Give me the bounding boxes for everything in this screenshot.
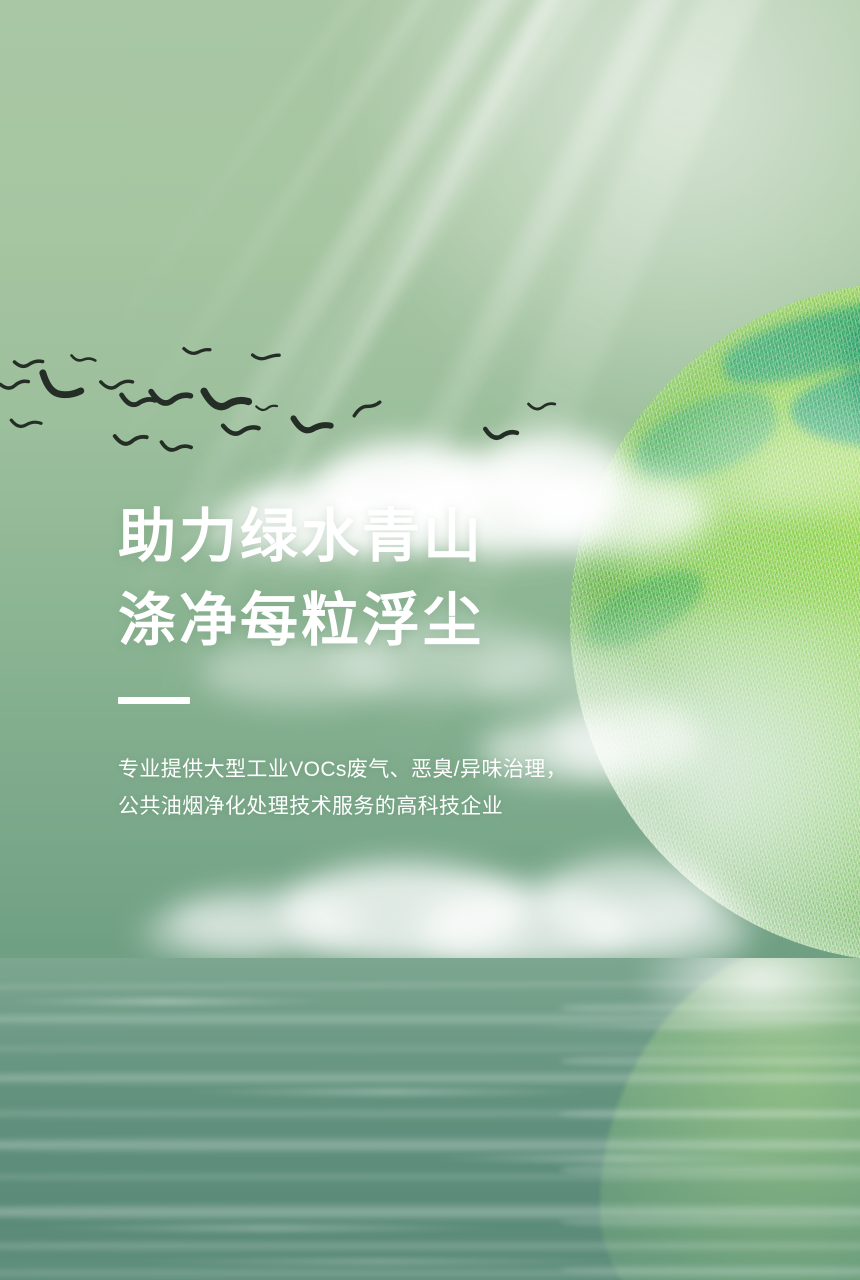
subtitle-line-1: 专业提供大型工业VOCs废气、恶臭/异味治理， [118, 751, 638, 788]
reflection-wave [560, 1002, 860, 1014]
reflection-wave [560, 1264, 860, 1276]
water-streak [430, 1154, 810, 1163]
reflection-wave [560, 1054, 860, 1068]
water-wave [0, 1136, 860, 1154]
hero-copy: 助力绿水青山 涤净每粒浮尘 专业提供大型工业VOCs废气、恶臭/异味治理， 公共… [118, 495, 638, 825]
light-ray [84, 0, 619, 370]
water-wave [0, 1070, 860, 1086]
bird-icon [255, 401, 279, 418]
reflection-wave [560, 1108, 860, 1120]
water-wave [0, 1012, 860, 1026]
water-streak [0, 998, 330, 1005]
bird-icon [182, 341, 213, 362]
bird-icon [292, 416, 332, 441]
reflection-texture [600, 958, 860, 1280]
bird-icon [250, 344, 282, 370]
bird-icon [202, 389, 251, 419]
water-wave [0, 1044, 860, 1053]
water-reflection-icon [0, 958, 860, 1280]
cloud-puff [140, 907, 290, 959]
hero-poster: 助力绿水青山 涤净每粒浮尘 专业提供大型工业VOCs废气、恶臭/异味治理， 公共… [0, 0, 860, 1280]
water-wave [0, 1266, 860, 1280]
water-wave [0, 1172, 860, 1182]
bird-icon [350, 397, 383, 422]
divider-rule [118, 697, 190, 704]
flying-birds-icon [0, 330, 520, 470]
bird-icon [159, 439, 192, 459]
water-streak [120, 1258, 640, 1265]
reflection-wave [560, 1216, 860, 1229]
headline-line-2: 涤净每粒浮尘 [118, 579, 638, 663]
bird-icon [222, 421, 261, 442]
water-streak [180, 1088, 600, 1096]
water-wave [0, 1108, 860, 1119]
bird-icon [150, 387, 193, 412]
subtitle-line-2: 公共油烟净化处理技术服务的高科技企业 [118, 788, 638, 825]
water-wave [0, 1202, 860, 1222]
water-mist [630, 958, 860, 1028]
bird-icon [113, 431, 148, 453]
water-streak [30, 1224, 510, 1232]
bird-icon [527, 399, 556, 417]
bird-icon [37, 370, 85, 405]
cloud-puff [170, 891, 360, 953]
globe-bloom [570, 282, 860, 512]
reflection-wave [560, 1162, 860, 1177]
bird-icon [69, 352, 97, 369]
headline-line-1: 助力绿水青山 [118, 495, 638, 579]
bird-icon [0, 376, 31, 398]
globe-reflection [600, 958, 860, 1280]
bird-icon [10, 417, 43, 434]
bird-icon [484, 426, 518, 447]
water-streak [520, 1024, 840, 1030]
cloud-puff [280, 863, 530, 963]
water-wave [0, 1240, 860, 1252]
water-wave [0, 978, 860, 992]
